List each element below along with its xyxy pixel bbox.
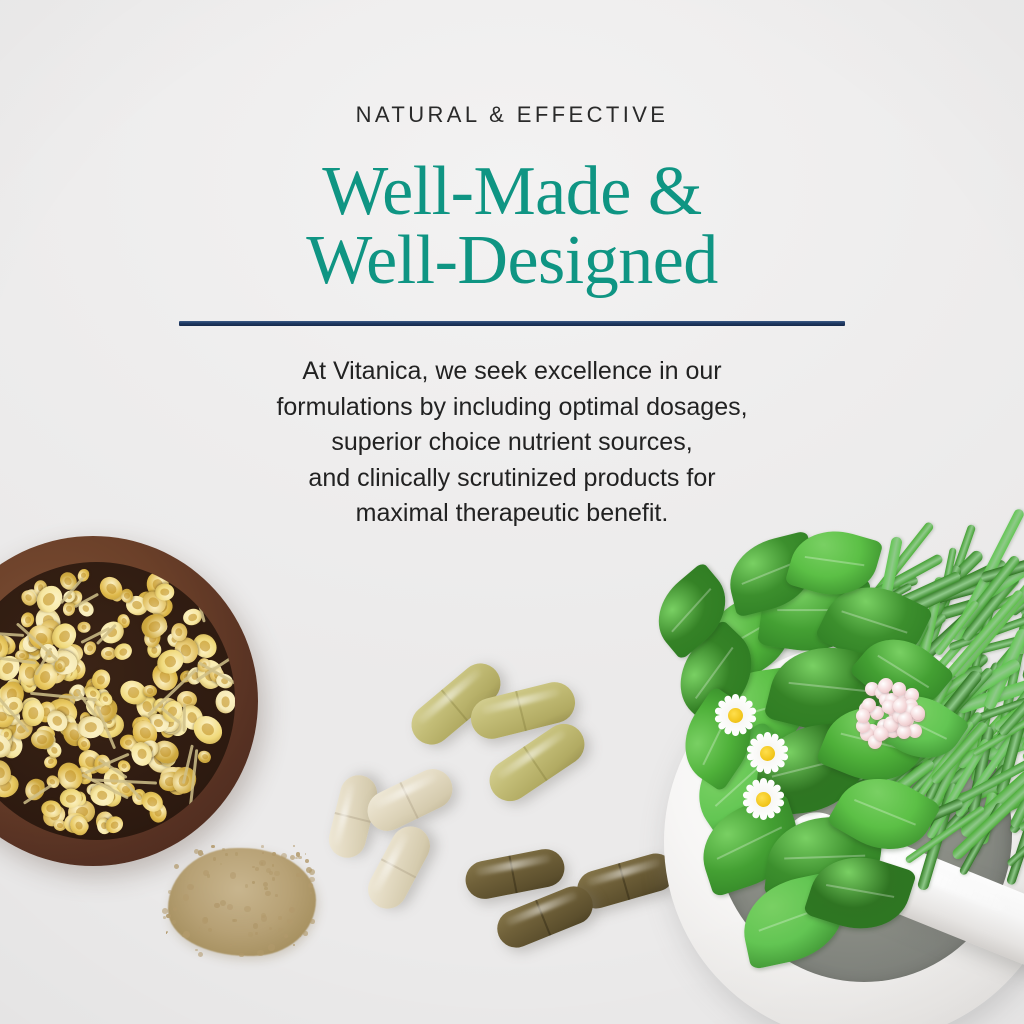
- powder-grain: [266, 868, 271, 873]
- allium-floret: [878, 679, 892, 693]
- headline-line-2: Well-Designed: [0, 227, 1024, 296]
- powder-grain: [252, 866, 254, 868]
- chamomile-bowl: [0, 536, 258, 866]
- divider-wrap: [0, 321, 1024, 326]
- allium-floret: [897, 725, 911, 739]
- powder-grain: [183, 894, 189, 900]
- chamomile-bud: [170, 622, 187, 641]
- powder-grain: [230, 944, 232, 946]
- powder-grain: [303, 931, 307, 935]
- powder-grain: [287, 919, 293, 925]
- daisy-center: [756, 792, 771, 807]
- powder-grain: [253, 923, 259, 929]
- daisy-center: [728, 708, 743, 723]
- powder-grain: [222, 848, 224, 850]
- allium-floret: [892, 682, 906, 696]
- divider-rule: [179, 321, 845, 326]
- powder-grain: [264, 887, 267, 890]
- powder-grain: [305, 853, 307, 855]
- powder-grain: [261, 845, 264, 848]
- powder-grain: [310, 892, 312, 894]
- allium-floret: [874, 727, 888, 741]
- powder-grain: [174, 864, 179, 869]
- powder-grain: [244, 906, 250, 912]
- powder-grain: [269, 927, 272, 930]
- powder-grain: [263, 882, 268, 887]
- powder-grain: [195, 949, 198, 952]
- promo-canvas: NATURAL & EFFECTIVE Well-Made & Well-Des…: [0, 0, 1024, 1024]
- powder-grain: [289, 907, 295, 913]
- body-copy: At Vitanica, we seek excellence in our f…: [0, 354, 1024, 532]
- chamomile-bud: [155, 584, 174, 601]
- powder-grain: [290, 855, 295, 860]
- chamomile-bud: [111, 640, 135, 663]
- powder-grain: [234, 943, 236, 945]
- powder-grain: [309, 877, 315, 883]
- powder-grain: [232, 919, 235, 922]
- powder-grain: [261, 862, 263, 864]
- powder-grain: [239, 953, 243, 957]
- body-line-4: and clinically scrutinized products for: [0, 461, 1024, 497]
- powder-grain: [245, 884, 248, 887]
- allium-floret: [898, 712, 912, 726]
- powder-grain: [162, 908, 168, 914]
- powder-grain: [293, 944, 295, 946]
- powder-grain: [255, 932, 258, 935]
- powder-grain: [305, 859, 309, 863]
- headline-line-1: Well-Made &: [0, 158, 1024, 227]
- page-title: Well-Made & Well-Designed: [0, 158, 1024, 295]
- powder-grain: [208, 928, 212, 932]
- powder-grain: [211, 845, 214, 848]
- powder-grain: [220, 900, 226, 906]
- chamomile-bowl-interior: [0, 562, 235, 839]
- powder-grain: [257, 950, 263, 956]
- chamomile-stem: [0, 632, 24, 637]
- powder-grain: [274, 871, 280, 877]
- powder-grain: [214, 903, 219, 908]
- powder-grain: [248, 932, 252, 936]
- body-line-1: At Vitanica, we seek excellence in our: [0, 354, 1024, 390]
- kicker-eyebrow: NATURAL & EFFECTIVE: [0, 104, 1024, 126]
- powder-grain: [227, 904, 233, 910]
- promo-text-block: NATURAL & EFFECTIVE Well-Made & Well-Des…: [0, 0, 1024, 532]
- daisy-flower: [744, 730, 790, 776]
- powder-grain: [173, 907, 177, 911]
- powder-grain: [230, 872, 236, 878]
- chamomile-bud: [215, 691, 235, 714]
- powder-grain: [298, 856, 302, 860]
- powder-grain: [272, 877, 276, 881]
- powder-grain: [278, 928, 283, 933]
- powder-grain: [225, 853, 228, 856]
- daisy-center: [760, 746, 775, 761]
- herbal-powder-pile: [168, 848, 316, 956]
- chamomile-bud: [78, 622, 91, 633]
- powder-grain: [310, 919, 315, 924]
- powder-grain: [261, 915, 267, 921]
- chamomile-bud: [196, 749, 213, 765]
- powder-mass: [168, 848, 316, 956]
- allium-flower: [842, 672, 928, 758]
- powder-grain: [203, 870, 209, 876]
- chamomile-bud: [30, 730, 53, 750]
- body-line-3: superior choice nutrient sources,: [0, 425, 1024, 461]
- powder-grain: [198, 952, 203, 957]
- powder-grain: [187, 884, 193, 890]
- powder-grain: [166, 914, 171, 919]
- tablet-cream-3: [361, 819, 437, 915]
- powder-grain: [278, 916, 281, 919]
- powder-grain: [213, 857, 216, 860]
- powder-grain: [268, 944, 274, 950]
- powder-grain: [293, 845, 295, 847]
- body-line-5: maximal therapeutic benefit.: [0, 496, 1024, 532]
- powder-grain: [272, 864, 274, 866]
- powder-grain: [203, 917, 208, 922]
- powder-grain: [284, 934, 288, 938]
- body-line-2: formulations by including optimal dosage…: [0, 390, 1024, 426]
- powder-grain: [252, 881, 254, 883]
- daisy-flower: [740, 776, 786, 822]
